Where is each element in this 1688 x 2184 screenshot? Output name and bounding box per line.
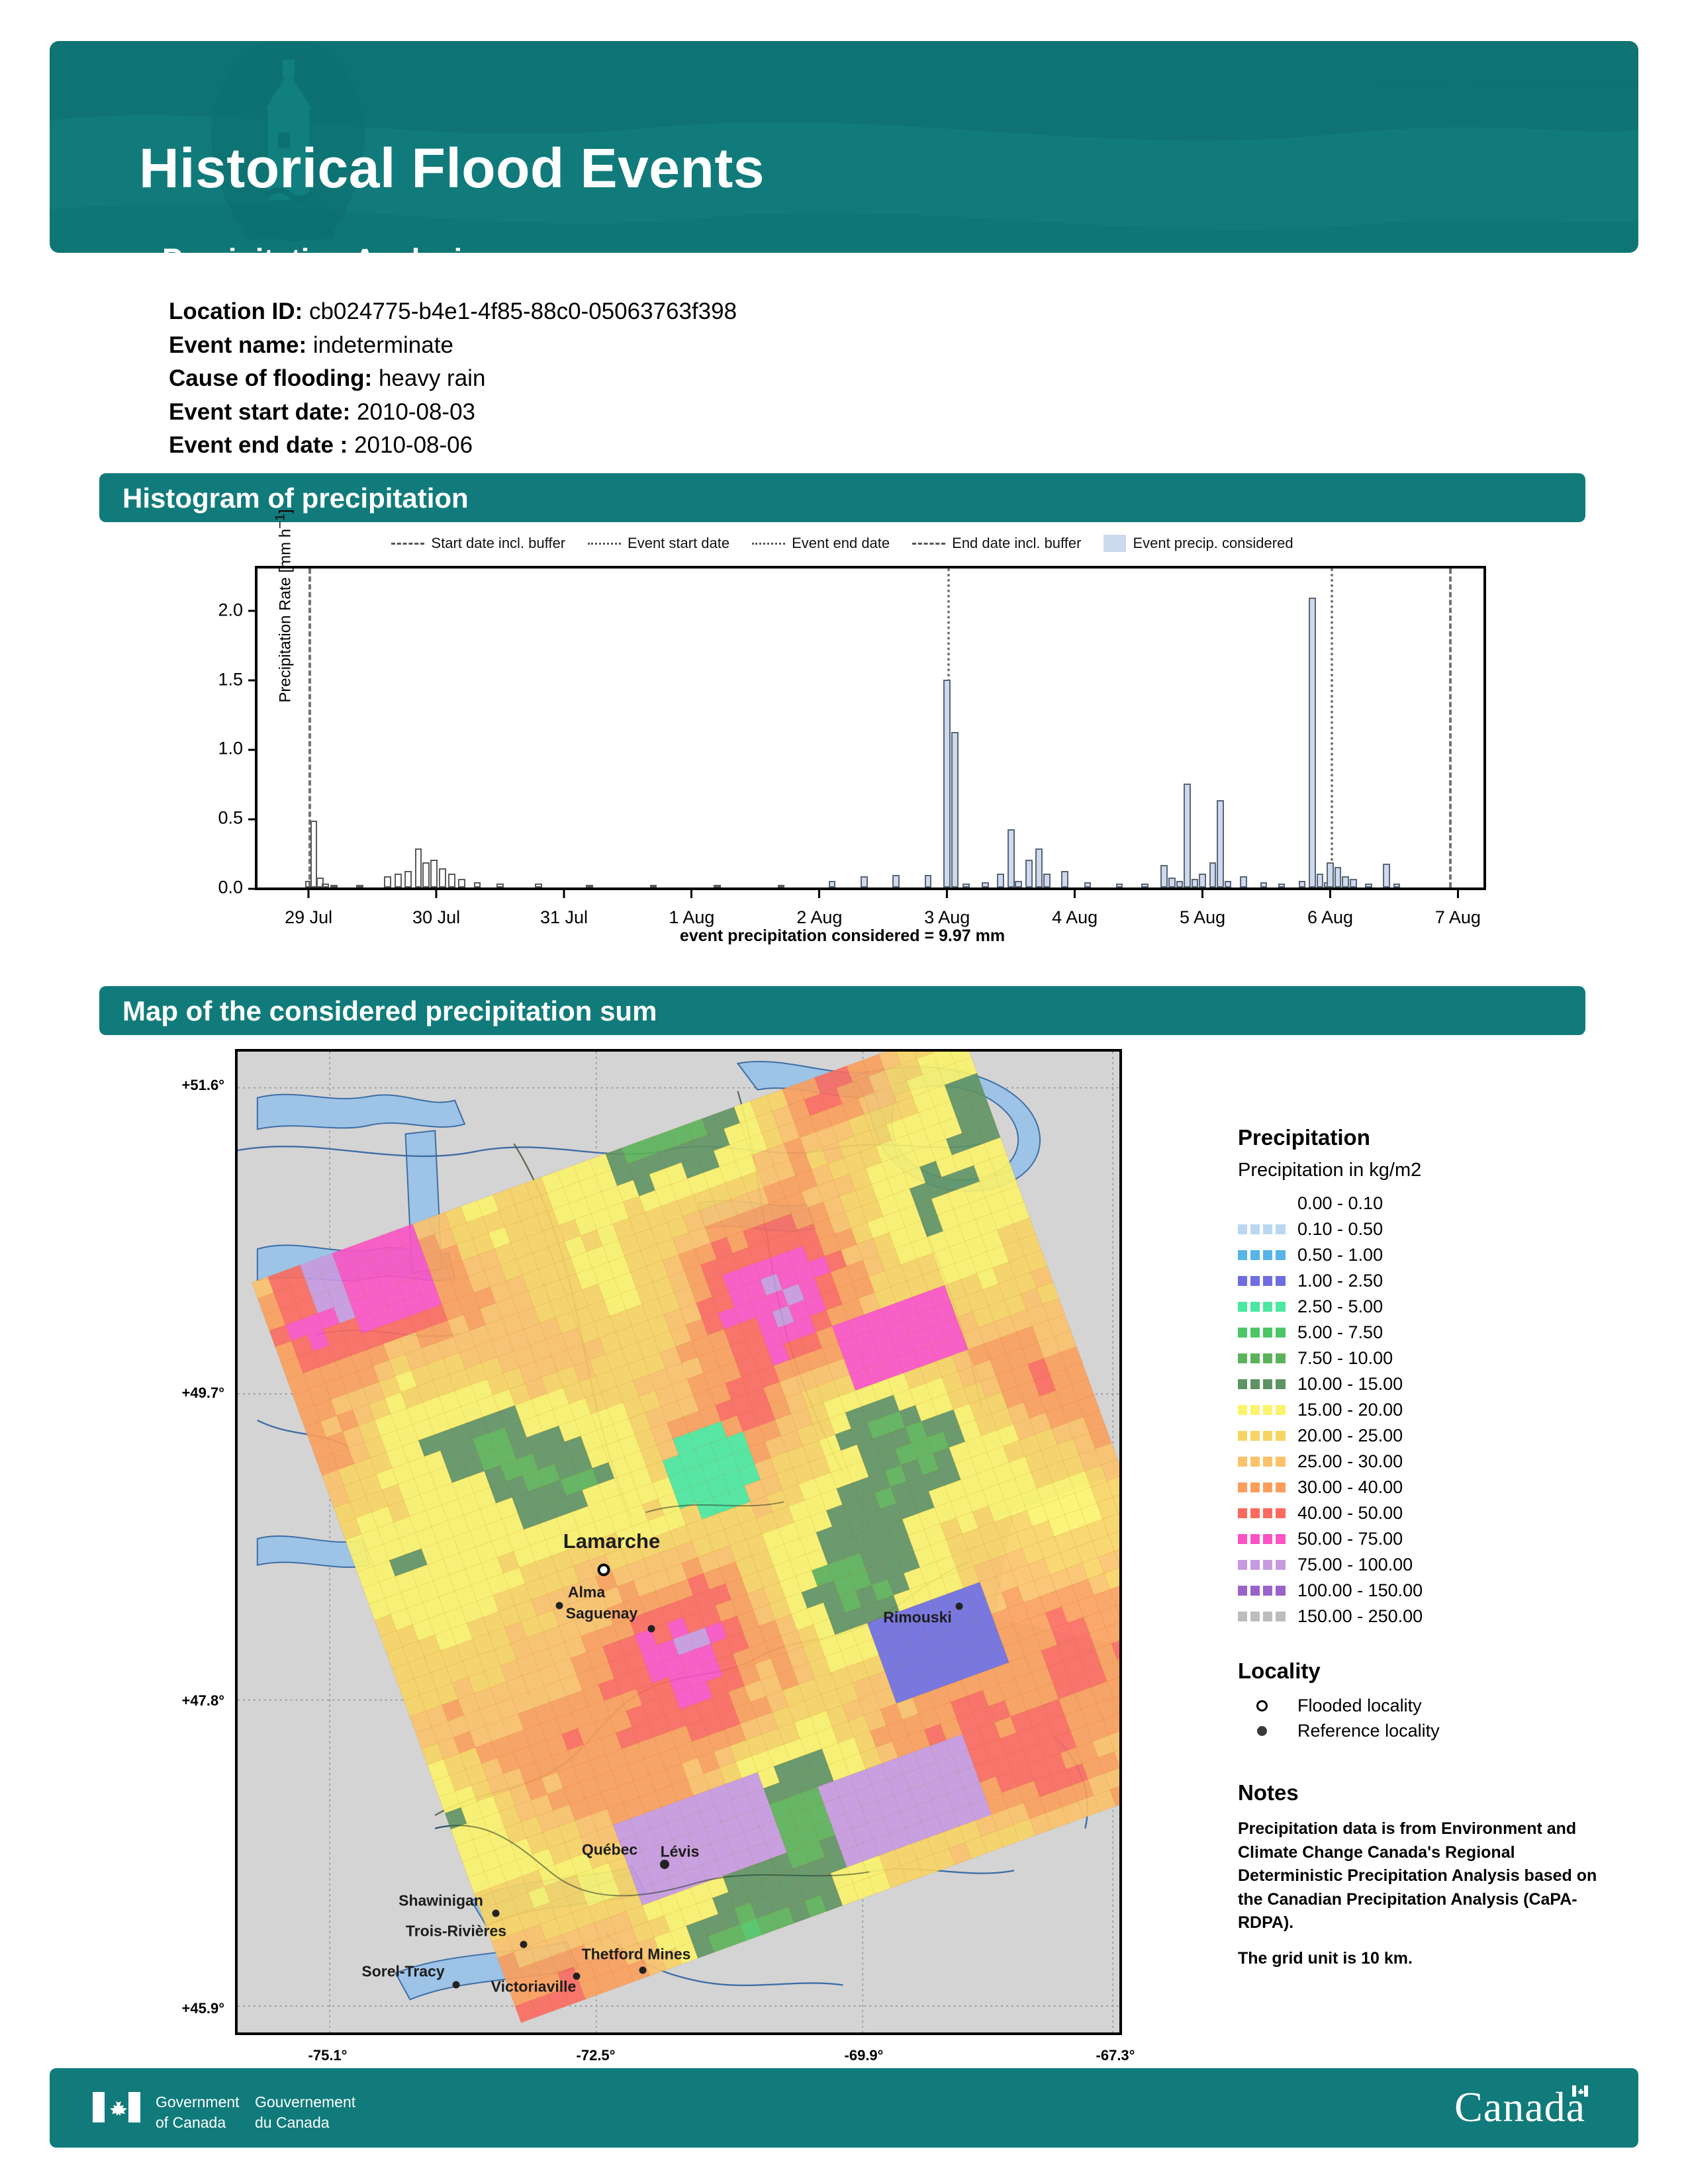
meta-label: Event end date : [169, 432, 348, 458]
map-lat-tick-3: +45.9° [182, 2000, 235, 2017]
meta-value: indeterminate [313, 332, 453, 358]
histogram-bar-s1-37 [1350, 879, 1357, 887]
meta-label: Event name: [169, 332, 306, 358]
canada-flag-icon [93, 2092, 140, 2122]
histogram-bar-s1-30 [1299, 881, 1306, 887]
precip-legend-swatch [1238, 1612, 1286, 1621]
city-label-trois-rivieres: Trois-Rivières [406, 1923, 506, 1940]
city-label-lamarche: Lamarche [563, 1529, 660, 1553]
histogram-bar-s1-18 [1160, 865, 1168, 887]
city-label-thetford-mines: Thetford Mines [582, 1946, 691, 1964]
histogram-legend-label: End date incl. buffer [952, 535, 1081, 552]
meta-value: 2010-08-03 [357, 399, 475, 425]
histogram-bar-s0-15 [474, 882, 481, 887]
precip-legend-swatch [1238, 1250, 1286, 1260]
map-lon-tick-2: -69.9° [845, 2035, 884, 2064]
notes-paragraph-1: Precipitation data is from Environment a… [1238, 1817, 1609, 1935]
histogram-bar-s1-5 [951, 732, 959, 887]
map-side-panel: Precipitation Precipitation in kg/m2 0.0… [1238, 1125, 1609, 1970]
meta-row-location-id: Location ID: cb024775-b4e1-4f85-88c0-050… [169, 296, 737, 328]
histogram-bar-s0-9 [415, 848, 422, 887]
histogram-legend-swatch [1103, 535, 1126, 552]
precip-legend-row-1: 0.10 - 0.50 [1238, 1216, 1609, 1242]
precip-legend-row-6: 7.50 - 10.00 [1238, 1345, 1609, 1371]
histogram-bar-s0-10 [422, 862, 430, 887]
histogram-bar-s1-22 [1192, 879, 1199, 887]
histogram-bar-s1-23 [1199, 874, 1206, 887]
x-axis-tick-4: 2 Aug [796, 887, 842, 928]
locality-legend-title: Locality [1238, 1659, 1609, 1684]
precip-legend-swatch [1238, 1353, 1286, 1363]
precip-legend-label: 0.10 - 0.50 [1297, 1219, 1383, 1240]
histogram-bar-s0-5 [356, 885, 363, 887]
precip-legend-label: 25.00 - 30.00 [1297, 1451, 1403, 1472]
precip-legend-swatch [1238, 1482, 1286, 1492]
histogram-bar-s0-8 [404, 871, 412, 887]
notes-paragraph-2: The grid unit is 10 km. [1238, 1947, 1609, 1971]
precip-legend-label: 5.00 - 7.50 [1297, 1322, 1383, 1343]
precip-legend-swatch [1238, 1199, 1286, 1208]
city-label-victoriaville: Victoriaville [491, 1978, 577, 1996]
histogram-legend-swatch [752, 543, 785, 545]
y-axis-tick-1: 0.5 [218, 808, 258, 829]
x-axis-tick-3: 1 Aug [669, 887, 714, 928]
city-label-shawinigan: Shawinigan [399, 1892, 483, 1910]
meta-value: cb024775-b4e1-4f85-88c0-05063763f398 [309, 298, 737, 324]
histogram-bar-s0-6 [384, 876, 391, 887]
city-dot-quebec [660, 1860, 669, 1869]
histogram-vline-3 [1449, 569, 1452, 887]
precip-legend-label: 30.00 - 40.00 [1297, 1477, 1403, 1498]
map-lon-tick-0: -75.1° [308, 2035, 348, 2064]
histogram-bar-s1-25 [1217, 800, 1224, 887]
map-canvas[interactable]: Lamarche Alma Saguenay Rimouski Québec L… [235, 1049, 1122, 2035]
precipitation-legend-subtitle: Precipitation in kg/m2 [1238, 1160, 1609, 1181]
histogram-bar-s0-17 [535, 884, 542, 887]
histogram-bar-s1-40 [1393, 884, 1401, 887]
map-lat-tick-1: +49.7° [182, 1385, 235, 1402]
city-label-levis: Lévis [661, 1843, 700, 1861]
histogram-bar-s1-32 [1317, 874, 1324, 887]
precip-legend-swatch [1238, 1328, 1286, 1338]
precip-legend-swatch [1238, 1560, 1286, 1570]
x-axis-tick-2: 31 Jul [540, 887, 588, 928]
y-axis-tick-2: 1.0 [218, 739, 258, 759]
x-axis-tick-9: 7 Aug [1435, 887, 1481, 928]
precip-legend-label: 100.00 - 150.00 [1297, 1580, 1423, 1601]
precip-legend-swatch [1238, 1379, 1286, 1389]
precip-legend-label: 40.00 - 50.00 [1297, 1503, 1403, 1524]
city-label-rimouski: Rimouski [883, 1609, 952, 1627]
precip-legend-row-5: 5.00 - 7.50 [1238, 1320, 1609, 1345]
precip-legend-row-4: 2.50 - 5.00 [1238, 1294, 1609, 1320]
histogram-legend-swatch [912, 543, 945, 545]
meta-row-end-date: Event end date : 2010-08-06 [169, 430, 737, 461]
map-lon-tick-1: -72.5° [577, 2035, 616, 2064]
precip-legend-swatch [1238, 1224, 1286, 1234]
histogram-legend-item-4: Event precip. considered [1103, 535, 1293, 552]
page-title: Historical Flood Events [139, 140, 765, 196]
event-metadata: Location ID: cb024775-b4e1-4f85-88c0-050… [169, 296, 737, 464]
histogram-legend-item-3: End date incl. buffer [912, 535, 1081, 552]
histogram-legend-label: Start date incl. buffer [431, 535, 565, 552]
map-panel: Lamarche Alma Saguenay Rimouski Québec L… [235, 1049, 1122, 2035]
precip-legend-swatch [1238, 1508, 1286, 1518]
precip-legend-label: 0.00 - 0.10 [1297, 1193, 1383, 1214]
precip-legend-label: 15.00 - 20.00 [1297, 1400, 1403, 1420]
histogram-bar-s1-6 [962, 884, 970, 887]
city-dot-thetford-mines [639, 1967, 647, 1974]
x-axis-tick-5: 3 Aug [924, 887, 970, 928]
histogram-plot-area: Precipitation Rate [mm h−1] 0.00.51.01.5… [255, 566, 1486, 890]
precip-legend-row-15: 100.00 - 150.00 [1238, 1578, 1609, 1604]
meta-row-event-name: Event name: indeterminate [169, 330, 737, 361]
meta-label: Cause of flooding: [169, 365, 372, 391]
histogram-legend-swatch [391, 543, 424, 545]
locality-legend-item-reference: Reference locality [1238, 1718, 1609, 1743]
precip-legend-row-10: 25.00 - 30.00 [1238, 1449, 1609, 1475]
canada-wordmark: Canada [1454, 2083, 1585, 2132]
histogram-bar-s0-3 [322, 884, 329, 887]
precip-legend-label: 2.50 - 5.00 [1297, 1297, 1383, 1317]
histogram-legend-label: Event precip. considered [1133, 535, 1293, 552]
histogram-bar-s1-36 [1342, 876, 1349, 887]
histogram-bar-s1-19 [1168, 878, 1176, 887]
section-title-histogram: Histogram of precipitation [122, 482, 469, 514]
histogram-bar-s1-16 [1116, 884, 1123, 887]
histogram-bar-s1-26 [1225, 881, 1232, 887]
histogram-legend-item-2: Event end date [752, 535, 890, 552]
locality-legend-label: Flooded locality [1297, 1696, 1422, 1716]
meta-value: heavy rain [379, 365, 485, 391]
precip-legend-row-16: 150.00 - 250.00 [1238, 1604, 1609, 1629]
histogram-bar-s1-38 [1365, 884, 1372, 887]
precip-legend-swatch [1238, 1534, 1286, 1544]
x-axis-tick-6: 4 Aug [1052, 887, 1098, 928]
city-dot-rimouski [956, 1603, 963, 1610]
precipitation-legend-list: 0.00 - 0.100.10 - 0.500.50 - 1.001.00 - … [1238, 1191, 1609, 1629]
precip-legend-swatch [1238, 1431, 1286, 1441]
y-axis-tick-0: 0.0 [218, 878, 258, 898]
city-dot-alma [556, 1602, 563, 1610]
precip-legend-row-14: 75.00 - 100.00 [1238, 1552, 1609, 1578]
meta-label: Event start date: [169, 399, 350, 425]
histogram-bar-s1-9 [1008, 829, 1015, 887]
histogram-bar-s1-20 [1176, 881, 1184, 887]
histogram-bar-s1-3 [925, 875, 932, 887]
histogram-bar-s0-20 [714, 885, 721, 887]
precip-legend-row-12: 40.00 - 50.00 [1238, 1500, 1609, 1526]
histogram-bar-s1-7 [982, 882, 989, 887]
city-label-sorel-tracy: Sorel-Tracy [361, 1963, 444, 1981]
histogram-bar-s1-29 [1278, 884, 1286, 887]
gov-en-line1: Government [156, 2092, 240, 2113]
notes-block: Notes Precipitation data is from Environ… [1238, 1780, 1609, 1970]
precip-legend-row-0: 0.00 - 0.10 [1238, 1191, 1609, 1216]
histogram-bar-s0-19 [650, 885, 657, 887]
histogram-bar-s0-12 [439, 868, 446, 887]
histogram-bar-s0-14 [458, 879, 465, 887]
histogram-panel: Start date incl. bufferEvent start dateE… [99, 529, 1585, 960]
gov-of-canada-en: Government of Canada [156, 2092, 240, 2133]
histogram-legend-label: Event start date [628, 535, 729, 552]
precip-legend-label: 50.00 - 75.00 [1297, 1529, 1403, 1549]
histogram-bar-s0-21 [778, 885, 785, 887]
map-lat-tick-0: +51.6° [182, 1077, 235, 1094]
meta-row-start-date: Event start date: 2010-08-03 [169, 397, 737, 428]
histogram-bar-s1-8 [997, 874, 1004, 887]
precip-legend-label: 150.00 - 250.00 [1297, 1606, 1423, 1627]
histogram-bar-s0-11 [430, 860, 438, 887]
precip-legend-row-8: 15.00 - 20.00 [1238, 1397, 1609, 1423]
histogram-bar-s1-13 [1043, 874, 1051, 887]
section-header-map: Map of the considered precipitation sum [99, 986, 1585, 1035]
flooded-locality-marker [598, 1564, 610, 1576]
histogram-bar-s1-4 [943, 680, 951, 887]
histogram-bar-s1-0 [829, 881, 836, 887]
reference-locality-icon [1238, 1726, 1286, 1736]
page-header: Historical Flood Events Precipitation An… [50, 41, 1638, 253]
locality-legend-item-flooded: Flooded locality [1238, 1693, 1609, 1718]
histogram-bar-s1-35 [1335, 867, 1342, 887]
city-label-saguenay: Saguenay [566, 1605, 638, 1623]
histogram-bar-s0-13 [448, 874, 455, 887]
precip-legend-row-11: 30.00 - 40.00 [1238, 1475, 1609, 1500]
histogram-bar-s0-7 [395, 874, 402, 887]
histogram-bar-s1-2 [892, 875, 900, 887]
precip-legend-row-9: 20.00 - 25.00 [1238, 1423, 1609, 1449]
histogram-bar-s1-28 [1260, 882, 1268, 887]
locality-legend: Locality Flooded locality Reference loca… [1238, 1659, 1609, 1743]
precip-legend-swatch [1238, 1276, 1286, 1286]
histogram-bar-s1-15 [1084, 882, 1092, 887]
histogram-bar-s1-11 [1025, 860, 1033, 887]
city-dot-victoriaville [573, 1973, 581, 1980]
meta-label: Location ID: [169, 298, 303, 324]
x-axis-tick-8: 6 Aug [1307, 887, 1353, 928]
section-title-map: Map of the considered precipitation sum [122, 995, 657, 1027]
histogram-bar-s1-24 [1209, 862, 1217, 887]
precip-legend-swatch [1238, 1586, 1286, 1596]
x-axis-tick-1: 30 Jul [412, 887, 460, 928]
y-axis-label: Precipitation Rate [mm h−1] [273, 474, 295, 739]
histogram-bar-s0-4 [330, 885, 338, 887]
canada-wordmark-text: Canada [1454, 2083, 1585, 2130]
histogram-legend-label: Event end date [792, 535, 890, 552]
x-axis-tick-0: 29 Jul [285, 887, 332, 928]
precip-legend-label: 7.50 - 10.00 [1297, 1348, 1393, 1369]
precip-legend-swatch [1238, 1405, 1286, 1415]
histogram-legend-swatch [588, 543, 621, 545]
meta-row-cause: Cause of flooding: heavy rain [169, 363, 737, 394]
precip-legend-label: 0.50 - 1.00 [1297, 1245, 1383, 1265]
city-dot-trois-rivieres [520, 1941, 528, 1948]
gov-fr-line2: du Canada [255, 2113, 355, 2133]
precip-legend-label: 10.00 - 15.00 [1297, 1374, 1403, 1394]
precip-legend-swatch [1238, 1302, 1286, 1312]
histogram-bar-s1-1 [861, 876, 868, 887]
histogram-legend-item-0: Start date incl. buffer [391, 535, 565, 552]
locality-legend-label: Reference locality [1297, 1721, 1440, 1741]
precip-legend-label: 20.00 - 25.00 [1297, 1426, 1403, 1446]
precip-legend-row-13: 50.00 - 75.00 [1238, 1526, 1609, 1552]
canada-wordmark-flag-icon [1572, 2085, 1588, 2097]
precip-legend-row-7: 10.00 - 15.00 [1238, 1371, 1609, 1397]
histogram-bar-s1-27 [1240, 876, 1247, 887]
page-footer: Government of Canada Gouvernement du Can… [50, 2068, 1638, 2148]
precip-legend-label: 75.00 - 100.00 [1297, 1555, 1413, 1575]
precip-legend-swatch [1238, 1457, 1286, 1467]
histogram-bar-s1-39 [1383, 864, 1390, 887]
histogram-bar-s1-21 [1184, 784, 1191, 887]
histogram-caption: event precipitation considered = 9.97 mm [99, 927, 1585, 946]
precip-legend-row-3: 1.00 - 2.50 [1238, 1268, 1609, 1294]
city-dot-saguenay [648, 1625, 655, 1633]
page-subtitle: Precipitation Analysis [162, 244, 479, 253]
histogram-legend-item-1: Event start date [588, 535, 729, 552]
gov-en-line2: of Canada [156, 2113, 240, 2133]
histogram-bar-s1-14 [1061, 871, 1068, 887]
city-dot-sorel-tracy [453, 1981, 460, 1989]
gov-fr-line1: Gouvernement [255, 2092, 355, 2113]
histogram-bar-s1-12 [1035, 848, 1043, 887]
gov-of-canada-fr: Gouvernement du Canada [255, 2092, 355, 2133]
precipitation-legend-title: Precipitation [1238, 1125, 1609, 1150]
histogram-bar-s1-17 [1141, 884, 1149, 887]
y-axis-tick-4: 2.0 [218, 600, 258, 620]
histogram-vline-2 [1331, 569, 1333, 887]
histogram-bar-s0-16 [496, 884, 504, 887]
city-label-alma: Alma [568, 1584, 605, 1602]
histogram-bar-s1-10 [1015, 881, 1022, 887]
x-axis-tick-7: 5 Aug [1180, 887, 1225, 928]
histogram-bar-s0-18 [586, 885, 593, 887]
map-lon-tick-3: -67.3° [1096, 2035, 1135, 2064]
histogram-legend: Start date incl. bufferEvent start dateE… [99, 529, 1585, 557]
city-dot-shawinigan [492, 1910, 500, 1917]
meta-value: 2010-08-06 [354, 432, 473, 458]
precip-legend-label: 1.00 - 2.50 [1297, 1271, 1383, 1291]
y-axis-tick-3: 1.5 [218, 669, 258, 690]
histogram-bar-s1-31 [1309, 598, 1316, 887]
city-label-quebec: Québec [582, 1841, 637, 1859]
notes-title: Notes [1238, 1780, 1609, 1805]
precip-legend-row-2: 0.50 - 1.00 [1238, 1242, 1609, 1268]
histogram-bar-s1-34 [1327, 862, 1334, 887]
flooded-locality-icon [1238, 1700, 1286, 1711]
map-lat-tick-2: +47.8° [182, 1692, 235, 1709]
map-graticule-and-geography [238, 1052, 1119, 2032]
section-header-histogram: Histogram of precipitation [99, 473, 1585, 522]
